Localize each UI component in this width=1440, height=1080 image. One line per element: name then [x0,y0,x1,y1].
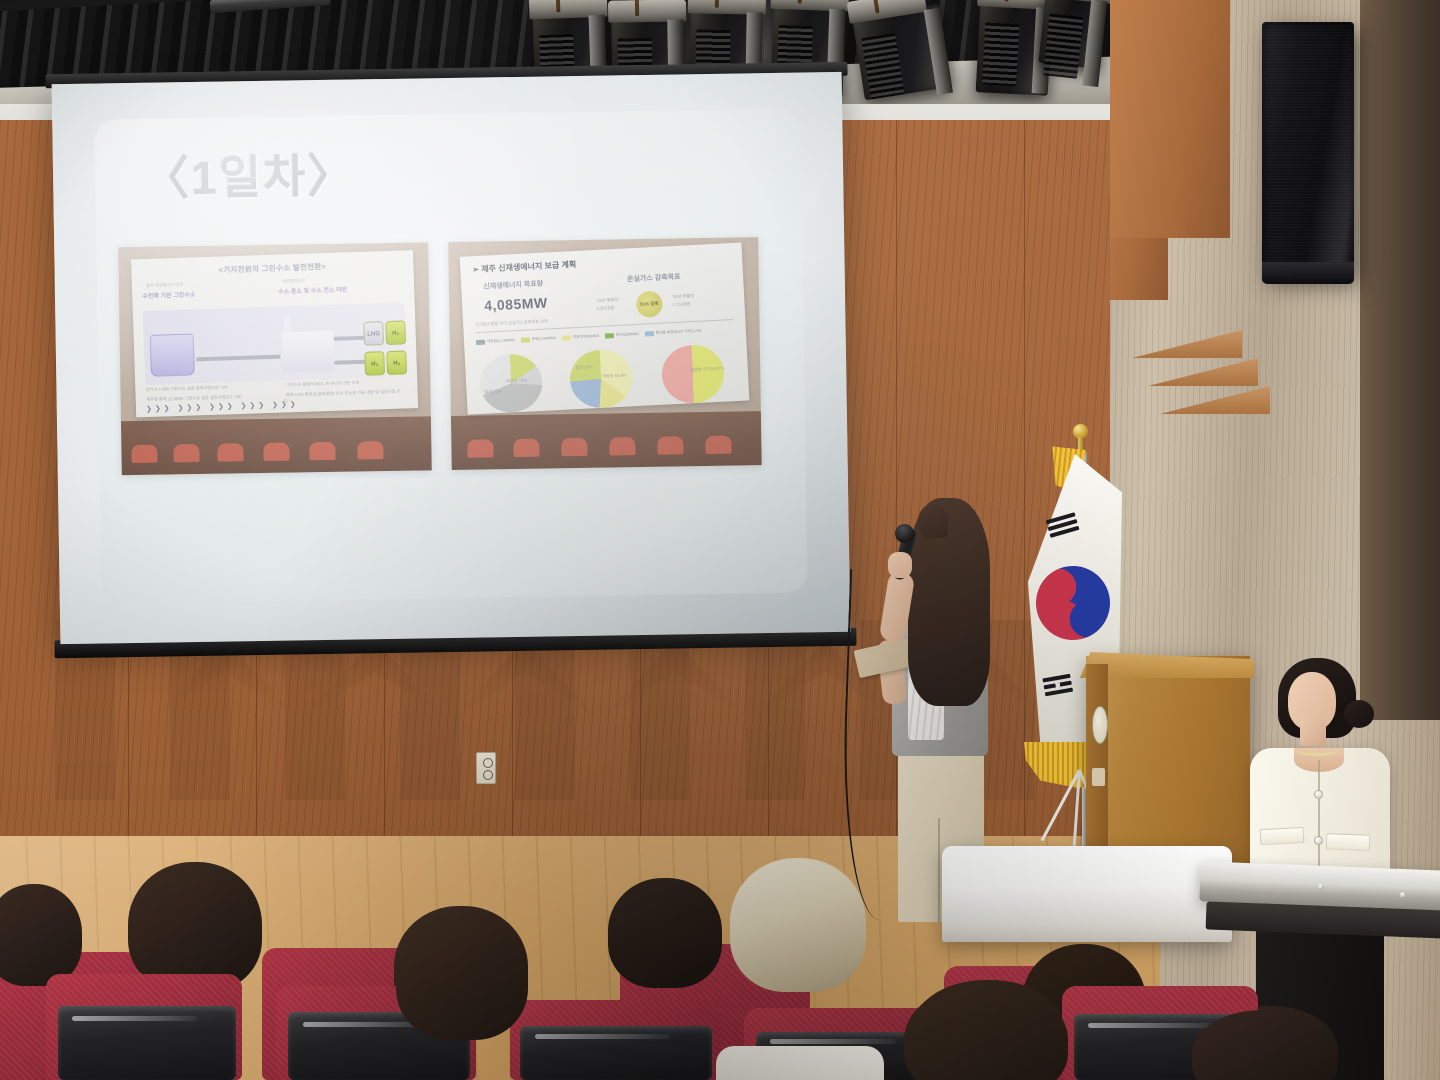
power-plant-icon [282,331,335,373]
legend-item: 연료전지(80MW) [562,334,599,341]
jacket-button [1314,836,1323,845]
pie-1-label-a: 태양광 71% [506,378,527,385]
presenter-hair-front [918,504,948,538]
ghg-from-value: 4,265천톤 [596,305,614,312]
renewable-target-label: 신재생에너지 목표량 [483,279,543,292]
left-slide-note-4: · 향후 LNG 발전소(설비열량) 수소 혼소로 기술 개발 및 실증사업 추… [284,389,404,405]
ghg-reduction-label: 온실가스 감축목표 [627,272,681,285]
left-slide-sec1-small: 풍력 재생에너지 연계 [146,282,183,289]
screen-surface: 〈1일차〉 <기지전원의 그린수소 발전전환> 풍력 재생에너지 연계 [52,72,851,644]
legend-swatch [521,337,530,342]
stage-light-fixture [852,4,952,101]
legend-swatch [476,340,485,345]
ghg-reduction-badge: 51% 감축 [636,291,663,318]
left-slide-sec2-label: 수소 혼소 및 수소 전소 터빈 [278,284,347,295]
wall-wood-step-mid [1110,0,1230,238]
right-slide-source-note: 국가탄소중립 국가 온실가스감축목표 반영 [475,318,548,328]
legend-item: 폐기물·해양에너지 기타(1,2%) [645,329,702,337]
line-array-speaker [1262,22,1354,277]
printed-slide-sheet-left: <기지전원의 그린수소 발전전환> 풍력 재생에너지 연계 수전해 기반 그린수… [131,250,418,417]
pie-chart-3 [661,344,726,405]
audience-member-head [608,878,722,988]
audience-member-head-front [904,984,1068,1080]
pie-2-label-b: 풍력 29% [575,364,593,371]
left-slide-note-1: · 안덕 0.3 MW 그린수소 실증 실증사업('20~'24) [143,384,227,393]
lectern-side-panel [1086,664,1108,862]
wall-power-outlet [476,752,496,784]
right-slide-caption-title: ➢ 제주 신재생에너지 보급 계획 [472,259,576,275]
legend-item: 풍력(1,040MW) [521,336,557,343]
white-front-barrier [942,846,1232,942]
audience-member-head-front [730,860,866,992]
gas-cylinder-h2-c: H₂ [386,350,407,375]
left-slide-sec1-label: 수전해 기반 그린수소 [142,289,195,300]
pie-chart-2 [569,348,634,409]
auditorium-presentation-scene: 〈1일차〉 <기지전원의 그린수소 발전전환> 풍력 재생에너지 연계 [0,0,1440,1080]
audience-member-head [0,884,82,986]
legend-swatch [645,331,654,336]
legend-swatch [562,335,571,340]
electrolyzer-tank-icon [150,333,195,376]
jacket-pocket-right [1326,833,1371,851]
slide-photo-right: ➢ 제주 신재생에너지 보급 계획 신재생에너지 목표량 4,085MW 온실가… [448,237,762,470]
slide-title: 〈1일차〉 [143,139,356,208]
gas-cylinder-h2-b: H₂ [364,351,385,376]
gas-cylinder-lng: LNG [363,321,384,346]
stage-light-fixture [1038,0,1107,69]
left-slide-sec2-small: 내연발전소의 [282,278,305,285]
slide-card: 〈1일차〉 <기지전원의 그린수소 발전전환> 풍력 재생에너지 연계 [94,108,808,603]
legend-item: 태양광(1,278MW) [476,338,515,345]
slide-photo-left: <기지전원의 그린수소 발전전환> 풍력 재생에너지 연계 수전해 기반 그린수… [118,242,432,475]
audience-member-head [128,862,262,992]
photo-seat-row [121,416,432,475]
rail-fastener [1318,884,1324,890]
pie-1-label-b: 풍력 22% [484,389,502,396]
gas-cylinder-h2-a: H₂ [385,320,406,345]
projection-screen: 〈1일차〉 <기지전원의 그린수소 발전전환> 풍력 재생에너지 연계 [52,72,851,644]
attendee-necklace [1294,742,1340,756]
audience-member-shoulders [716,1046,884,1080]
lectern-emblem [1092,706,1108,744]
audience-member-head-front [396,912,528,1040]
photo-seat-row [451,411,762,470]
seat-headrest [58,1006,236,1080]
pie-2-label-a: 태양광 60.8% [602,373,627,380]
attendee-hair-bun [1344,700,1374,728]
left-slide-caption-title: <기지전원의 그린수소 발전전환> [131,258,413,278]
legend-item: 바이오(59MW) [605,332,639,339]
trouser-seam [938,818,940,922]
renewable-target-value: 4,085MW [484,294,548,313]
wooden-lectern [1086,656,1250,868]
printed-slide-sheet-right: ➢ 제주 신재생에너지 보급 계획 신재생에너지 목표량 4,085MW 온실가… [460,243,750,415]
lectern-plaque [1092,768,1105,786]
legend-swatch [605,333,614,338]
speaker-base [1262,262,1354,284]
left-slide-note-3: · 그린수소 통합적 확대, 재 에너지 기반 부족 [283,380,359,389]
jacket-button [1314,790,1323,799]
ghg-to-value: 1,718천톤 [672,301,690,308]
ghg-from-label: '18년 배출량 [596,297,618,304]
rail-fastener [1400,892,1406,898]
presenter-hand [888,552,912,578]
seat-headrest [520,1026,712,1080]
jacket-pocket-left [1260,827,1305,845]
right-wall-dark-column [1360,0,1440,720]
ghg-to-label: '30년 배출량 [672,293,694,300]
